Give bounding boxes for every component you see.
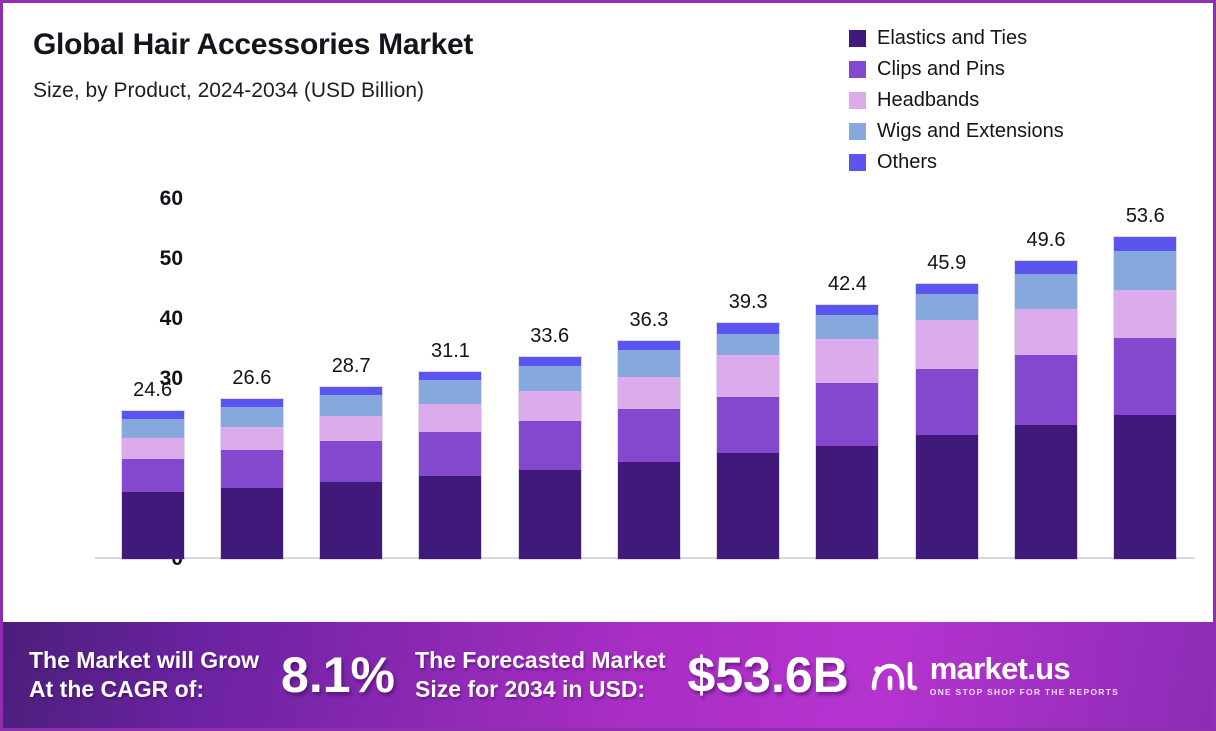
bar-segment-headbands[interactable] (122, 438, 184, 460)
bar-segment-wigs-and-extensions[interactable] (717, 334, 779, 355)
stacked-bar[interactable] (1114, 237, 1176, 559)
bar-segment-wigs-and-extensions[interactable] (221, 407, 283, 427)
legend-item-1[interactable]: Clips and Pins (849, 58, 1064, 81)
bar-column-2034[interactable]: 53.6 (1096, 199, 1195, 559)
legend-swatch-icon (849, 61, 866, 78)
bar-segment-wigs-and-extensions[interactable] (419, 380, 481, 404)
stacked-bar[interactable] (916, 284, 978, 559)
bar-series-container: 24.626.628.731.133.636.339.342.445.949.6… (103, 199, 1195, 559)
bar-segment-wigs-and-extensions[interactable] (618, 350, 680, 378)
bar-segment-headbands[interactable] (1015, 309, 1077, 355)
legend-swatch-icon (849, 154, 866, 171)
bar-segment-others[interactable] (1015, 261, 1077, 274)
bar-segment-elastics-and-ties[interactable] (618, 462, 680, 559)
cagr-label-line2: At the CAGR of: (29, 675, 259, 704)
forecast-value: $53.6B (688, 650, 849, 700)
stacked-bar[interactable] (816, 305, 878, 559)
stacked-bar[interactable] (717, 323, 779, 559)
logo-name: market.us (930, 653, 1119, 684)
bar-segment-headbands[interactable] (717, 355, 779, 397)
legend-item-label: Headbands (877, 89, 979, 112)
bar-segment-others[interactable] (916, 284, 978, 295)
bar-segment-others[interactable] (122, 411, 184, 418)
legend-item-0[interactable]: Elastics and Ties (849, 27, 1064, 50)
bar-segment-clips-and-pins[interactable] (122, 459, 184, 492)
bar-segment-clips-and-pins[interactable] (1015, 355, 1077, 425)
bar-segment-clips-and-pins[interactable] (320, 441, 382, 482)
bar-segment-wigs-and-extensions[interactable] (1114, 251, 1176, 289)
stacked-bar[interactable] (519, 357, 581, 559)
bar-column-2026[interactable]: 28.7 (302, 199, 401, 559)
bar-segment-headbands[interactable] (916, 320, 978, 369)
bar-column-2025[interactable]: 26.6 (202, 199, 301, 559)
stacked-bar[interactable] (1015, 261, 1077, 559)
summary-banner: The Market will Grow At the CAGR of: 8.1… (3, 622, 1213, 728)
bar-segment-others[interactable] (419, 372, 481, 380)
cagr-label-line1: The Market will Grow (29, 646, 259, 675)
bar-segment-others[interactable] (519, 357, 581, 365)
bar-column-2028[interactable]: 33.6 (500, 199, 599, 559)
logo-tagline: ONE STOP SHOP FOR THE REPORTS (930, 687, 1119, 697)
stacked-bar[interactable] (221, 399, 283, 559)
cagr-label: The Market will Grow At the CAGR of: (29, 646, 259, 703)
bar-segment-wigs-and-extensions[interactable] (122, 419, 184, 438)
bar-segment-elastics-and-ties[interactable] (1015, 425, 1077, 559)
bar-segment-headbands[interactable] (618, 377, 680, 409)
chart-legend: Elastics and TiesClips and PinsHeadbands… (849, 27, 1064, 174)
bar-segment-elastics-and-ties[interactable] (1114, 415, 1176, 559)
bar-total-label: 28.7 (332, 355, 371, 378)
legend-item-4[interactable]: Others (849, 151, 1064, 174)
bar-segment-others[interactable] (618, 341, 680, 349)
bar-segment-clips-and-pins[interactable] (1114, 338, 1176, 415)
bar-segment-headbands[interactable] (519, 391, 581, 421)
bar-column-2024[interactable]: 24.6 (103, 199, 202, 559)
bar-total-label: 26.6 (232, 367, 271, 390)
forecast-label-line1: The Forecasted Market (415, 646, 666, 675)
legend-swatch-icon (849, 123, 866, 140)
bar-segment-clips-and-pins[interactable] (221, 450, 283, 488)
bar-column-2031[interactable]: 42.4 (798, 199, 897, 559)
bar-total-label: 31.1 (431, 340, 470, 363)
bar-column-2030[interactable]: 39.3 (699, 199, 798, 559)
bar-segment-others[interactable] (320, 387, 382, 395)
page-title: Global Hair Accessories Market (33, 28, 473, 62)
bar-total-label: 53.6 (1126, 205, 1165, 228)
legend-item-label: Elastics and Ties (877, 27, 1027, 50)
bar-segment-clips-and-pins[interactable] (519, 421, 581, 470)
bar-total-label: 39.3 (729, 291, 768, 314)
bar-segment-elastics-and-ties[interactable] (221, 488, 283, 559)
legend-item-3[interactable]: Wigs and Extensions (849, 120, 1064, 143)
bar-total-label: 49.6 (1027, 229, 1066, 252)
bar-segment-others[interactable] (221, 399, 283, 406)
bar-segment-wigs-and-extensions[interactable] (916, 294, 978, 320)
bar-segment-elastics-and-ties[interactable] (320, 482, 382, 559)
bar-total-label: 24.6 (133, 379, 172, 402)
bar-segment-headbands[interactable] (221, 427, 283, 450)
bar-segment-wigs-and-extensions[interactable] (1015, 274, 1077, 309)
legend-swatch-icon (849, 92, 866, 109)
bar-segment-elastics-and-ties[interactable] (122, 492, 184, 559)
bar-segment-elastics-and-ties[interactable] (419, 476, 481, 559)
stacked-bar[interactable] (419, 372, 481, 559)
bar-segment-others[interactable] (1114, 237, 1176, 251)
stacked-bar[interactable] (320, 387, 382, 559)
bar-segment-headbands[interactable] (1114, 290, 1176, 339)
bar-segment-others[interactable] (816, 305, 878, 316)
chart-plot-area: 0102030405060 24.626.628.731.133.636.339… (95, 199, 1195, 559)
bar-column-2029[interactable]: 36.3 (599, 199, 698, 559)
bar-segment-wigs-and-extensions[interactable] (519, 366, 581, 391)
legend-swatch-icon (849, 30, 866, 47)
bar-total-label: 42.4 (828, 273, 867, 296)
infographic-frame: Global Hair Accessories Market Size, by … (0, 0, 1216, 731)
bar-segment-clips-and-pins[interactable] (717, 397, 779, 453)
forecast-label-line2: Size for 2034 in USD: (415, 675, 666, 704)
bar-total-label: 33.6 (530, 325, 569, 348)
cagr-value: 8.1% (281, 650, 395, 700)
bar-segment-others[interactable] (717, 323, 779, 334)
bar-segment-headbands[interactable] (320, 416, 382, 441)
bar-segment-elastics-and-ties[interactable] (816, 446, 878, 559)
bar-column-2032[interactable]: 45.9 (897, 199, 996, 559)
bar-segment-elastics-and-ties[interactable] (519, 470, 581, 559)
bar-segment-wigs-and-extensions[interactable] (320, 395, 382, 417)
bar-segment-clips-and-pins[interactable] (419, 432, 481, 476)
forecast-label: The Forecasted Market Size for 2034 in U… (415, 646, 666, 703)
bar-segment-elastics-and-ties[interactable] (717, 453, 779, 559)
market-us-mark-icon (869, 654, 921, 696)
legend-item-label: Wigs and Extensions (877, 120, 1064, 143)
bar-segment-clips-and-pins[interactable] (618, 409, 680, 462)
bar-segment-headbands[interactable] (816, 339, 878, 383)
bar-column-2033[interactable]: 49.6 (996, 199, 1095, 559)
bar-segment-clips-and-pins[interactable] (816, 383, 878, 445)
legend-item-2[interactable]: Headbands (849, 89, 1064, 112)
page-subtitle: Size, by Product, 2024-2034 (USD Billion… (33, 79, 424, 103)
bar-total-label: 45.9 (927, 252, 966, 275)
bar-segment-clips-and-pins[interactable] (916, 369, 978, 435)
market-us-logo[interactable]: market.us ONE STOP SHOP FOR THE REPORTS (869, 653, 1119, 697)
legend-item-label: Others (877, 151, 937, 174)
legend-item-label: Clips and Pins (877, 58, 1005, 81)
bar-segment-headbands[interactable] (419, 404, 481, 432)
bar-total-label: 36.3 (629, 309, 668, 332)
bar-column-2027[interactable]: 31.1 (401, 199, 500, 559)
market-us-wordmark: market.us ONE STOP SHOP FOR THE REPORTS (930, 653, 1119, 697)
stacked-bar[interactable] (122, 411, 184, 559)
bar-segment-elastics-and-ties[interactable] (916, 435, 978, 559)
stacked-bar[interactable] (618, 341, 680, 559)
bar-segment-wigs-and-extensions[interactable] (816, 315, 878, 339)
